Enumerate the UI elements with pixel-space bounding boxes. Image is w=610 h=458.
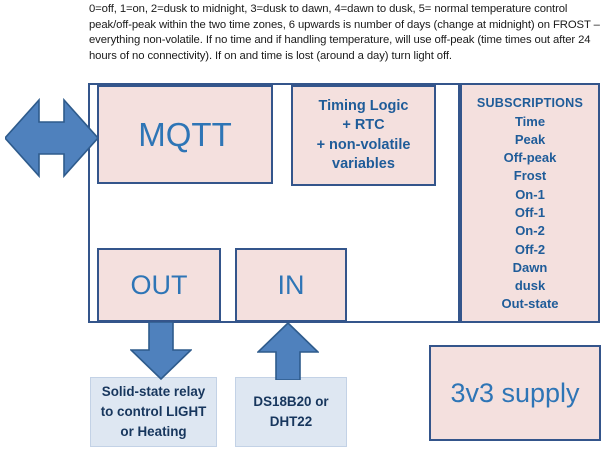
double-headed-arrow-icon <box>5 96 98 180</box>
block-3v3-supply[interactable]: 3v3 supply <box>429 345 601 441</box>
block-in[interactable]: IN <box>235 248 347 322</box>
block-temperature-sensor-label: DS18B20 or DHT22 <box>236 392 346 432</box>
subscription-item: Off-1 <box>462 204 598 222</box>
block-timing-logic[interactable]: Timing Logic + RTC + non-volatile variab… <box>291 85 436 186</box>
block-subscriptions[interactable]: SUBSCRIPTIONS Time Peak Off-peak Frost O… <box>460 83 600 323</box>
up-arrow-icon <box>257 322 319 380</box>
block-temperature-sensor[interactable]: DS18B20 or DHT22 <box>235 377 347 447</box>
block-out-label: OUT <box>99 270 219 301</box>
subscription-item: Time <box>462 113 598 131</box>
header-note-text: 0=off, 1=on, 2=dusk to midnight, 3=dusk … <box>89 2 605 64</box>
subscription-item: Out-state <box>462 295 598 313</box>
block-in-label: IN <box>237 270 345 301</box>
block-out[interactable]: OUT <box>97 248 221 322</box>
block-mqtt-label: MQTT <box>99 117 271 153</box>
subscription-item: dusk <box>462 277 598 295</box>
subscriptions-title: SUBSCRIPTIONS <box>462 94 598 112</box>
down-arrow-icon <box>130 322 192 380</box>
block-timing-logic-label: Timing Logic + RTC + non-volatile variab… <box>293 97 434 175</box>
block-3v3-supply-label: 3v3 supply <box>431 378 599 409</box>
diagram-canvas: 0=off, 1=on, 2=dusk to midnight, 3=dusk … <box>0 0 610 458</box>
subscription-item: Peak <box>462 131 598 149</box>
subscription-item: Dawn <box>462 259 598 277</box>
subscription-item: Off-2 <box>462 241 598 259</box>
subscriptions-list: SUBSCRIPTIONS Time Peak Off-peak Frost O… <box>462 92 598 314</box>
subscription-item: On-1 <box>462 186 598 204</box>
block-solid-state-relay-label: Solid-state relay to control LIGHT or He… <box>91 382 216 442</box>
subscription-item: On-2 <box>462 222 598 240</box>
subscription-item: Frost <box>462 167 598 185</box>
subscription-item: Off-peak <box>462 149 598 167</box>
block-solid-state-relay[interactable]: Solid-state relay to control LIGHT or He… <box>90 377 217 447</box>
block-mqtt[interactable]: MQTT <box>97 85 273 184</box>
